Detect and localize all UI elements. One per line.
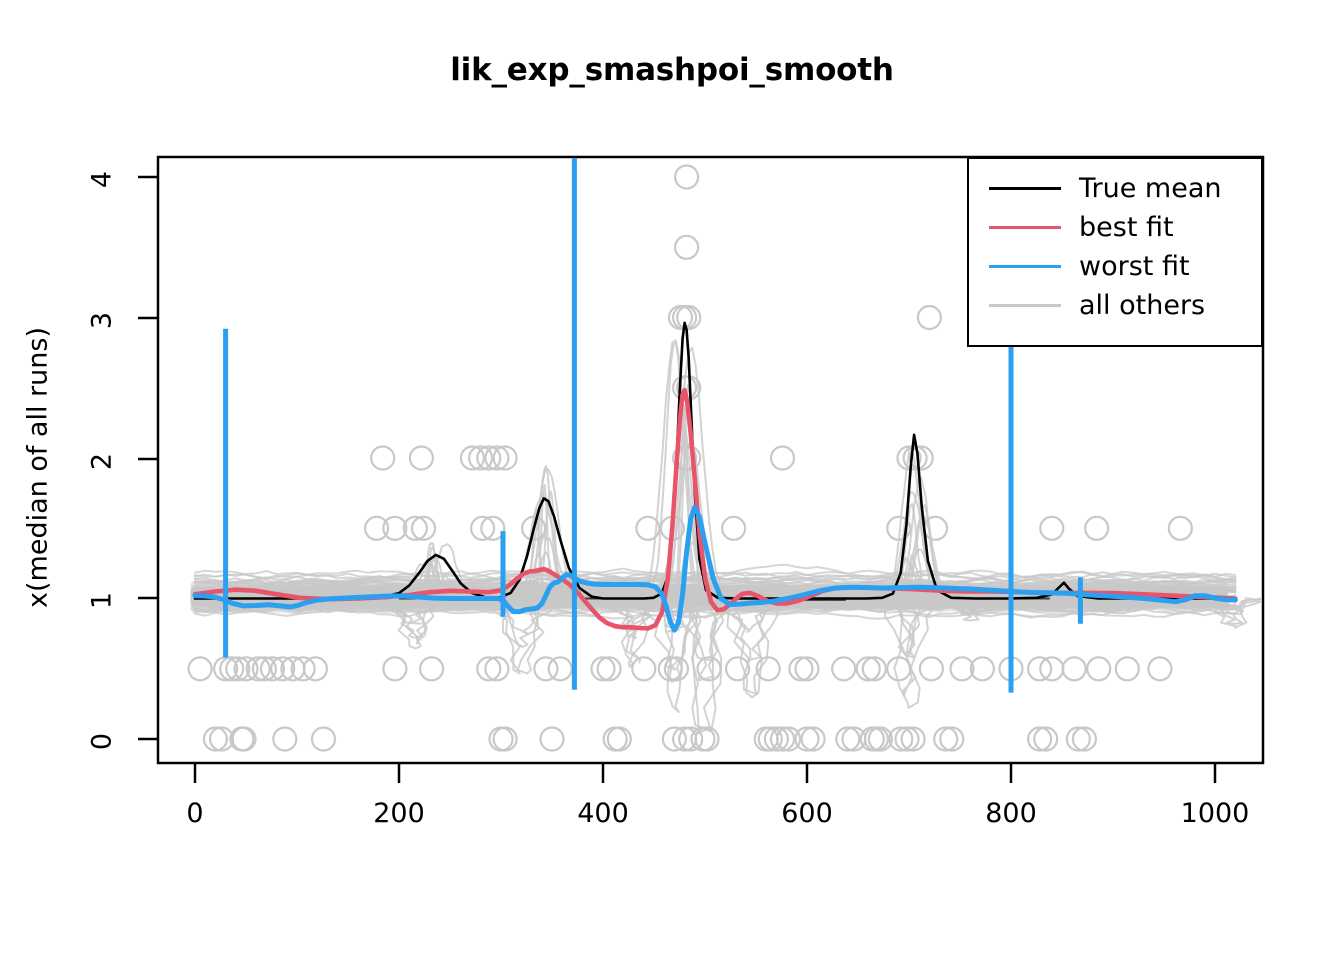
scatter-point bbox=[312, 728, 335, 751]
chart-figure: lik_exp_smashpoi_smooth x(median of all … bbox=[0, 0, 1344, 960]
legend-label-true-mean: True mean bbox=[1079, 175, 1222, 202]
scatter-point bbox=[1169, 517, 1192, 540]
scatter-point bbox=[675, 166, 698, 189]
scatter-point bbox=[887, 657, 910, 680]
scatter-point bbox=[802, 728, 825, 751]
scatter-point bbox=[1040, 517, 1063, 540]
scatter-point bbox=[918, 306, 941, 329]
all-others-runs bbox=[195, 340, 1277, 733]
scatter-point bbox=[471, 517, 494, 540]
legend-swatch-all-others bbox=[989, 304, 1061, 307]
legend-item-best-fit[interactable]: best fit bbox=[969, 208, 1265, 247]
scatter-point bbox=[371, 447, 394, 470]
scatter-point bbox=[365, 517, 388, 540]
plot-canvas bbox=[0, 0, 1344, 960]
scatter-point bbox=[410, 447, 433, 470]
scatter-point bbox=[189, 657, 212, 680]
scatter-point bbox=[896, 728, 919, 751]
scatter-point bbox=[842, 728, 865, 751]
legend-label-best-fit: best fit bbox=[1079, 214, 1174, 241]
scatter-point bbox=[1148, 657, 1171, 680]
scatter-point bbox=[1073, 728, 1096, 751]
scatter-point bbox=[1116, 657, 1139, 680]
scatter-point bbox=[592, 657, 615, 680]
scatter-point bbox=[836, 728, 859, 751]
scatter-point bbox=[924, 517, 947, 540]
scatter-point bbox=[920, 657, 943, 680]
scatter-point bbox=[383, 657, 406, 680]
legend: True mean best fit worst fit all others bbox=[967, 157, 1263, 347]
legend-swatch-worst-fit bbox=[989, 265, 1061, 268]
scatter-point bbox=[1063, 657, 1086, 680]
scatter-point bbox=[1087, 657, 1110, 680]
scatter-point bbox=[940, 728, 963, 751]
scatter-point bbox=[1067, 728, 1090, 751]
scatter-point bbox=[789, 657, 812, 680]
scatter-point bbox=[934, 728, 957, 751]
series-true-mean bbox=[195, 323, 1235, 599]
legend-label-worst-fit: worst fit bbox=[1079, 253, 1190, 280]
scatter-point bbox=[863, 657, 886, 680]
legend-label-all-others: all others bbox=[1079, 292, 1205, 319]
scatter-point bbox=[598, 657, 621, 680]
scatter-point bbox=[233, 728, 256, 751]
scatter-point bbox=[534, 657, 557, 680]
scatter-point bbox=[1034, 728, 1057, 751]
scatter-point bbox=[273, 728, 296, 751]
scatter-point bbox=[675, 236, 698, 259]
scatter-point bbox=[796, 728, 819, 751]
scatter-point bbox=[796, 657, 819, 680]
scatter-point bbox=[722, 517, 745, 540]
scatter-point bbox=[549, 657, 572, 680]
legend-item-worst-fit[interactable]: worst fit bbox=[969, 247, 1265, 286]
scatter-point bbox=[771, 447, 794, 470]
scatter-point bbox=[420, 657, 443, 680]
legend-swatch-best-fit bbox=[989, 226, 1061, 229]
scatter-point bbox=[1085, 517, 1108, 540]
legend-item-true-mean[interactable]: True mean bbox=[969, 169, 1265, 208]
scatter-point bbox=[673, 728, 696, 751]
legend-item-all-others[interactable]: all others bbox=[969, 286, 1265, 325]
scatter-point bbox=[857, 657, 880, 680]
scatter-point bbox=[204, 728, 227, 751]
scatter-point bbox=[541, 728, 564, 751]
scatter-point bbox=[632, 657, 655, 680]
scatter-point bbox=[1028, 728, 1051, 751]
legend-swatch-true-mean bbox=[989, 187, 1061, 190]
scatter-point bbox=[220, 657, 243, 680]
scatter-point bbox=[832, 657, 855, 680]
